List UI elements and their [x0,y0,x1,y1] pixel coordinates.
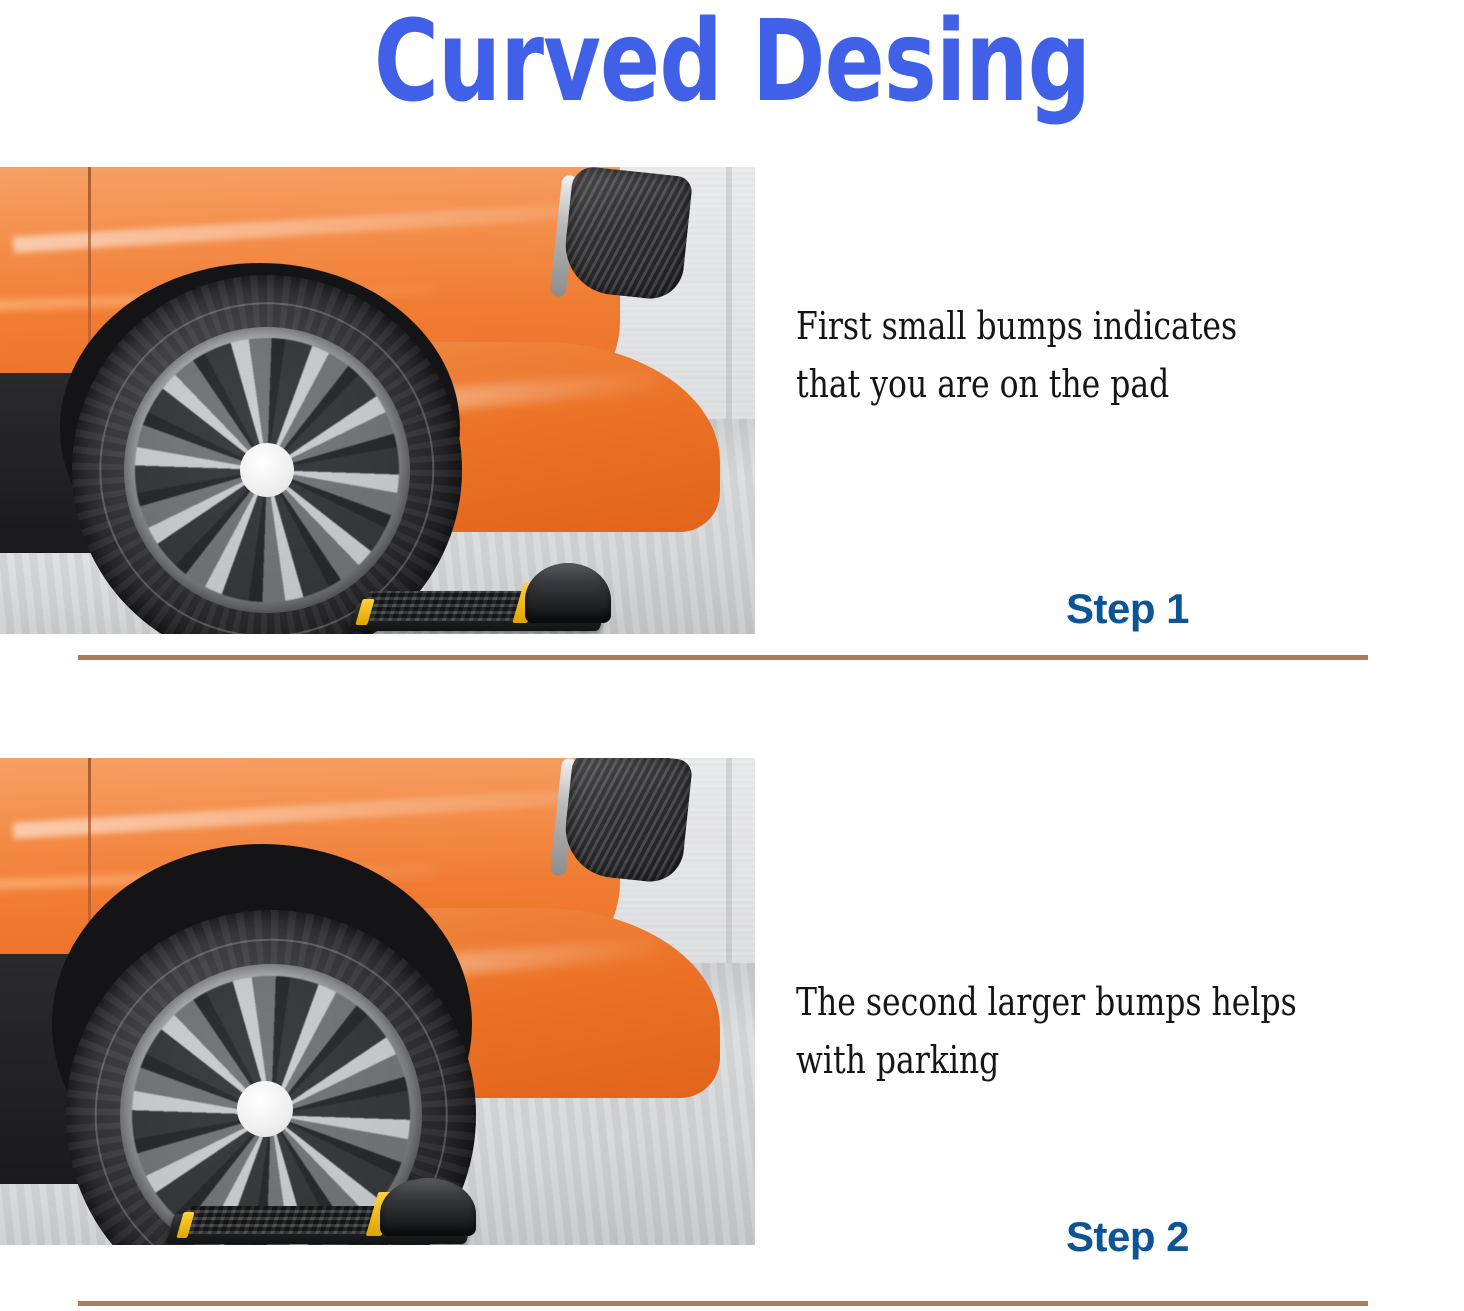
step-1-label: Step 1 [1066,585,1189,633]
parking-pad-step2 [150,1163,500,1245]
infographic-page: Curved Desing [0,0,1464,1311]
step-2-label: Step 2 [1066,1213,1189,1261]
step-2-photo [0,758,755,1245]
photo-scene [0,758,755,1245]
step-section-1: First small bumps indicates that you are… [0,167,1464,637]
page-title: Curved Desing [88,0,1376,128]
step-1-description-line-1: First small bumps indicates [796,304,1237,348]
parking-pad-step1 [335,542,615,634]
divider-2 [78,1301,1368,1306]
step-2-description-line-1: The second larger bumps helps [796,980,1297,1024]
step-2-description-line-2: with parking [796,1031,1412,1089]
step-2-text-column: The second larger bumps helps with parki… [796,973,1464,1089]
step-section-2: The second larger bumps helps with parki… [0,758,1464,1248]
step-1-text-column: First small bumps indicates that you are… [796,297,1464,413]
step-2-description: The second larger bumps helps with parki… [796,973,1412,1089]
wheel-center-cap [240,443,294,497]
step-1-description: First small bumps indicates that you are… [796,297,1412,413]
wheel-center-cap [237,1081,293,1137]
photo-scene [0,167,755,634]
step-1-description-line-2: that you are on the pad [796,355,1412,413]
step-1-photo [0,167,755,634]
divider-1 [78,655,1368,660]
pad-large-bump [525,563,611,623]
pad-large-bump [380,1178,476,1236]
